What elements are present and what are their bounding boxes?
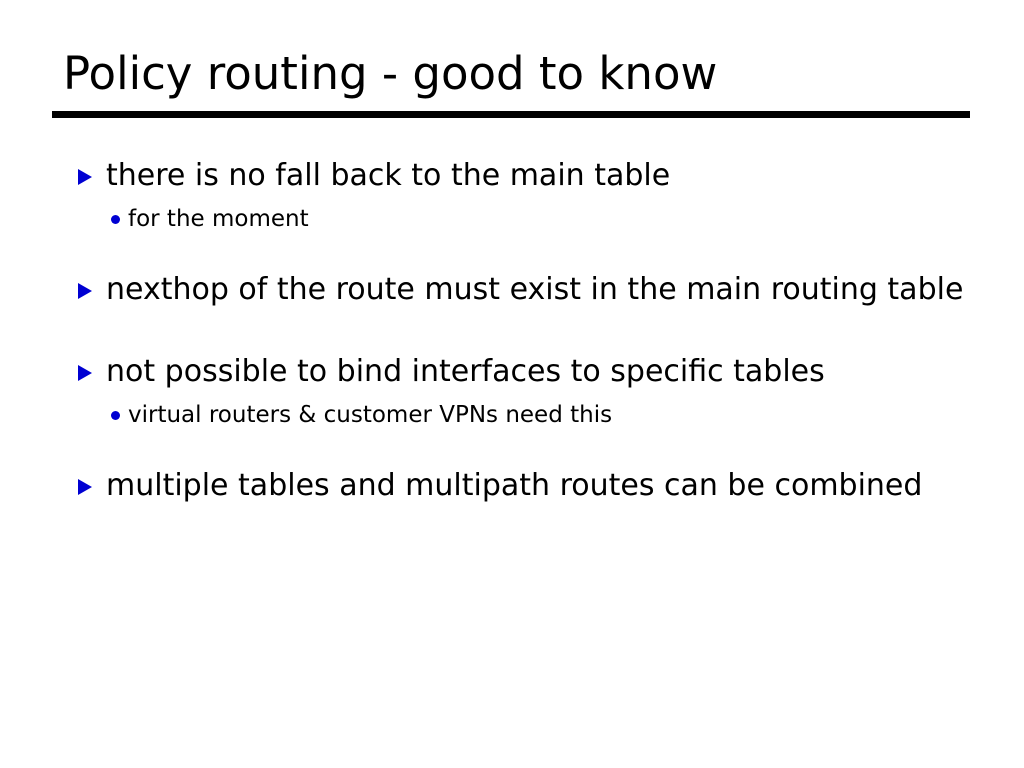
spacer: [78, 317, 978, 351]
list-item[interactable]: multiple tables and multipath routes can…: [78, 465, 978, 507]
spacer: [78, 431, 978, 465]
sub-list: for the moment: [78, 203, 978, 235]
list-item[interactable]: not possible to bind interfaces to speci…: [78, 351, 978, 393]
title-underline-rule: [52, 111, 970, 118]
list-item-label: there is no fall back to the main table: [106, 155, 978, 197]
dot-icon: [111, 215, 120, 224]
list-item[interactable]: there is no fall back to the main table: [78, 155, 978, 197]
list-item-label: nexthop of the route must exist in the m…: [106, 269, 978, 311]
title-block: Policy routing - good to know: [52, 46, 972, 102]
list-item[interactable]: nexthop of the route must exist in the m…: [78, 269, 978, 311]
slide: Policy routing - good to know there is n…: [0, 0, 1024, 768]
triangle-right-icon: [78, 365, 92, 381]
dot-icon: [111, 411, 120, 420]
bullet-list: there is no fall back to the main table …: [78, 155, 978, 513]
triangle-right-icon: [78, 169, 92, 185]
list-item-label: multiple tables and multipath routes can…: [106, 465, 978, 507]
sub-list-item[interactable]: for the moment: [78, 203, 978, 235]
triangle-right-icon: [78, 283, 92, 299]
sub-list: virtual routers & customer VPNs need thi…: [78, 399, 978, 431]
spacer: [78, 235, 978, 269]
sub-list-item-label: for the moment: [128, 203, 978, 235]
triangle-right-icon: [78, 479, 92, 495]
sub-list-item-label: virtual routers & customer VPNs need thi…: [128, 399, 978, 431]
sub-list-item[interactable]: virtual routers & customer VPNs need thi…: [78, 399, 978, 431]
page-title: Policy routing - good to know: [52, 46, 972, 102]
list-item-label: not possible to bind interfaces to speci…: [106, 351, 978, 393]
